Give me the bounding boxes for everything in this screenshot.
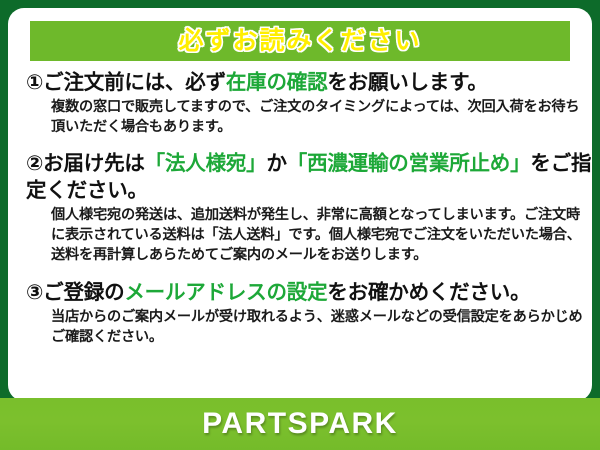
banner-title: 必ずお読みください: [178, 29, 421, 54]
notice-item-1-subtext: 複数の窓口で販売してますので、ご注文のタイミングによっては、次回入荷をお待ち頂い…: [20, 97, 592, 138]
notice-item-1-heading-highlight: 在庫の確認: [226, 71, 328, 94]
notice-item-2-number: ②: [26, 152, 43, 175]
notice-item-2: ②お届け先は「法人様宛」か「西濃運輸の営業所止め」をご指定ください。 個人様宅宛…: [20, 150, 592, 266]
notice-item-1-number: ①: [26, 71, 43, 94]
notice-item-1-heading-after: をお願いします。: [327, 71, 487, 94]
notice-item-3-heading: ③ご登録のメールアドレスの設定をお確かめください。: [20, 279, 592, 306]
notice-item-3-heading-highlight: メールアドレスの設定: [124, 281, 327, 304]
notice-item-3-heading-before: ご登録の: [43, 281, 124, 304]
notice-item-3-subtext: 当店からのご案内メールが受け取れるよう、迷惑メールなどの受信設定をあらかじめご確…: [20, 307, 592, 348]
notice-item-3: ③ご登録のメールアドレスの設定をお確かめください。 当店からのご案内メールが受け…: [20, 279, 592, 348]
notice-body: ①ご注文前には、必ず在庫の確認をお願いします。 複数の窓口で販売してますので、ご…: [20, 68, 592, 349]
brand-footer: PARTSPARK: [0, 398, 600, 450]
notice-item-2-heading-highlight: 「法人様宛」: [145, 152, 267, 175]
notice-item-1: ①ご注文前には、必ず在庫の確認をお願いします。 複数の窓口で販売してますので、ご…: [20, 69, 592, 138]
notice-item-2-heading-middle: か: [266, 152, 286, 175]
notice-item-2-heading: ②お届け先は「法人様宛」か「西濃運輸の営業所止め」をご指定ください。: [20, 150, 592, 204]
notice-item-3-heading-after: をお確かめください。: [327, 281, 530, 304]
notice-banner: 必ずお読みください: [30, 21, 570, 61]
notice-item-2-heading-highlight-2: 「西濃運輸の営業所止め」: [287, 152, 531, 175]
notice-card: 必ずお読みください ①ご注文前には、必ず在庫の確認をお願いします。 複数の窓口で…: [0, 0, 600, 450]
notice-item-1-heading: ①ご注文前には、必ず在庫の確認をお願いします。: [20, 69, 592, 96]
notice-item-2-heading-before: お届け先は: [43, 152, 145, 175]
notice-item-2-subtext: 個人様宅宛の発送は、追加送料が発生し、非常に高額となってしまいます。ご注文時に表…: [20, 205, 592, 266]
brand-name: PARTSPARK: [202, 409, 398, 439]
notice-panel: 必ずお読みください ①ご注文前には、必ず在庫の確認をお願いします。 複数の窓口で…: [8, 8, 592, 401]
notice-item-3-number: ③: [26, 281, 43, 304]
notice-item-1-heading-before: ご注文前には、必ず: [43, 71, 226, 94]
